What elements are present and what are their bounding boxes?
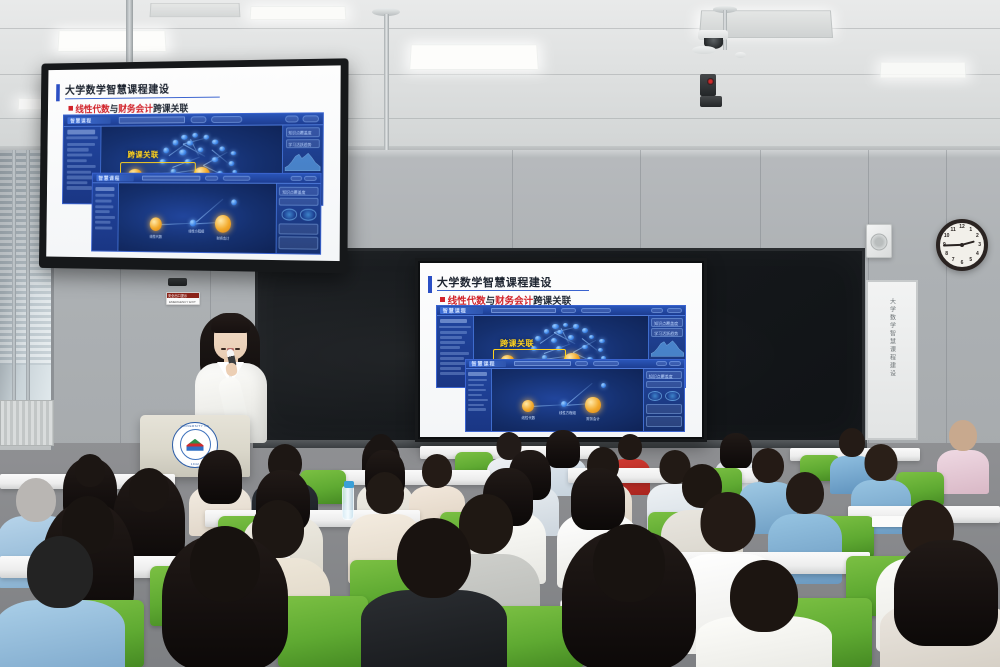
sidebar-item[interactable]	[67, 165, 96, 168]
led-panel-light	[250, 6, 347, 20]
dashboard-search-input[interactable]	[142, 176, 201, 181]
graph-node-label: 线性代数	[149, 234, 162, 239]
cross-course-highlight-label: 跨课关联	[500, 338, 534, 349]
person-head	[422, 454, 452, 488]
dashboard-toolbar-button[interactable]	[651, 308, 663, 313]
graph-edge	[531, 404, 564, 407]
wall-sign-header: 安全出口提示	[167, 293, 199, 298]
graph-node[interactable]	[172, 140, 178, 145]
dashboard-search-input[interactable]	[491, 308, 556, 313]
clock-numeral: 8	[945, 251, 948, 257]
panel-card-title: 知识点覆盖度	[654, 321, 678, 327]
graph-node[interactable]	[582, 328, 588, 333]
dashboard-topbar: 智慧课程	[437, 306, 686, 317]
slide-bullet-marker-icon	[440, 297, 445, 302]
panel-card[interactable]	[646, 381, 682, 388]
ac-vent	[150, 3, 241, 17]
activity-area-chart	[651, 338, 684, 356]
sidebar-item[interactable]	[468, 379, 487, 382]
led-panel-light	[57, 30, 166, 52]
area-chart-svg	[651, 338, 684, 356]
presenter-hair-fringe	[211, 313, 250, 333]
panel-card-title: 学习活跃趋势	[288, 142, 311, 148]
person-head	[397, 518, 471, 598]
panel-card-title: 知识点覆盖度	[649, 374, 673, 380]
person-head	[865, 444, 898, 481]
panel-gauge	[648, 391, 663, 401]
graph-node-label: 线性方程组	[188, 229, 204, 234]
graph-node[interactable]	[601, 383, 606, 389]
graph-node[interactable]	[190, 219, 196, 226]
dashboard-window-secondary[interactable]: 智慧课程	[91, 172, 321, 254]
lecture-hall-scene: 安全出口提示 EMERGENCY EXIT 12 1 2 3 4 5 6 7 8…	[0, 0, 1000, 667]
graph-hub-node-right[interactable]	[585, 397, 600, 412]
graph-node[interactable]	[231, 199, 237, 205]
slide-title-underline	[437, 290, 589, 291]
person-head	[593, 524, 665, 602]
clock-numeral: 12	[959, 224, 965, 230]
sidebar-item[interactable]	[468, 389, 486, 392]
seal-top-text: UNIVERSITY OF	[181, 424, 210, 428]
slide-surface: 大学数学智慧课程建设 线性代数与财务会计跨课关联 智慧课程	[420, 263, 702, 437]
person-head	[786, 472, 824, 514]
graph-node[interactable]	[598, 348, 603, 352]
knowledge-graph-canvas[interactable]: 线性代数 财务会计 线性方程组	[492, 369, 642, 431]
sidebar-item[interactable]	[468, 394, 482, 397]
wall-sign-sub: EMERGENCY EXIT	[169, 300, 196, 304]
wall-speaker	[866, 224, 892, 258]
sidebar-item-header[interactable]	[440, 319, 468, 323]
sidebar-item[interactable]	[440, 336, 462, 339]
slide-surface: 大学数学智慧课程建设 线性代数与财务会计跨课关联 智慧课程	[46, 65, 341, 261]
side-board-label: 大学数学智慧课程建设	[888, 298, 897, 378]
smoke-detector	[735, 52, 746, 58]
person-head	[949, 420, 977, 451]
sidebar-item[interactable]	[440, 372, 465, 375]
graph-node[interactable]	[230, 151, 236, 156]
clock-center-pin	[960, 243, 964, 247]
clock-numeral: 3	[978, 242, 981, 248]
sidebar-item[interactable]	[440, 346, 460, 349]
wall-panel-seam	[640, 150, 641, 250]
dashboard-toolbar-button[interactable]	[581, 308, 611, 313]
dashboard-toolbar-button[interactable]	[667, 308, 682, 313]
sidebar-item[interactable]	[66, 137, 98, 139]
sidebar-item[interactable]	[440, 352, 469, 355]
dashboard-right-panel: 知识点覆盖度	[276, 184, 321, 254]
graph-node[interactable]	[589, 335, 595, 339]
dashboard-toolbar-button[interactable]	[575, 361, 588, 366]
wall-sign: 安全出口提示 EMERGENCY EXIT	[166, 292, 200, 305]
clock-numeral: 4	[976, 251, 979, 257]
sidebar-item[interactable]	[439, 326, 471, 328]
clock-numeral: 1	[969, 227, 972, 233]
panel-card[interactable]: 学习活跃趋势	[285, 139, 320, 149]
graph-node[interactable]	[568, 335, 574, 340]
dashboard-brand: 智慧课程	[98, 175, 120, 182]
dashboard-brand: 智慧课程	[70, 117, 92, 124]
slide-title: 大学数学智慧课程建设	[65, 80, 170, 97]
dashboard-sidebar	[92, 183, 119, 250]
panel-card[interactable]: 知识点覆盖度	[646, 371, 682, 379]
panel-card-title: 知识点覆盖度	[288, 131, 311, 137]
box-camera-body	[700, 96, 722, 107]
knowledge-graph-canvas[interactable]: 线性代数 财务会计 线性方程组	[119, 184, 276, 254]
speaker-cone-icon	[871, 234, 888, 251]
dashboard-toolbar-button[interactable]	[561, 308, 576, 313]
dashboard-toolbar-button[interactable]	[191, 117, 207, 123]
camera-lens-icon	[707, 78, 714, 85]
audience-person	[366, 512, 502, 667]
graph-node[interactable]	[163, 148, 169, 153]
slide-bullet-marker-icon	[68, 106, 73, 111]
clock-numeral: 10	[944, 233, 950, 239]
panel-card[interactable]	[646, 404, 682, 414]
graph-node[interactable]	[535, 336, 541, 341]
presenter-eye	[221, 348, 226, 350]
graph-node-label: 财务会计	[586, 416, 600, 421]
dashboard-sidebar	[466, 369, 492, 431]
sidebar-item[interactable]	[440, 367, 461, 370]
panel-card-title: 学习活跃趋势	[654, 331, 678, 337]
dashboard-toolbar-button[interactable]	[223, 176, 251, 181]
dashboard-toolbar-button[interactable]	[211, 116, 242, 122]
dashboard-toolbar-button[interactable]	[593, 361, 619, 366]
side-whiteboard: 大学数学智慧课程建设	[866, 280, 918, 440]
clock-numeral: 7	[952, 257, 955, 263]
sidebar-item-header[interactable]	[67, 130, 95, 135]
slide-title-underline	[65, 97, 220, 100]
clock-numeral: 11	[951, 227, 956, 233]
graph-node[interactable]	[219, 146, 225, 151]
dashboard-right-panel: 知识点覆盖度	[643, 369, 684, 431]
dashboard-toolbar-button[interactable]	[285, 116, 298, 122]
panel-gauge	[665, 391, 680, 401]
sidebar-item-header[interactable]	[468, 372, 487, 376]
dashboard-topbar: 智慧课程	[93, 173, 321, 184]
audience-person	[700, 556, 828, 667]
hanging-tv-display[interactable]: 大学数学智慧课程建设 线性代数与财务会计跨课关联 智慧课程	[39, 58, 349, 273]
graph-node[interactable]	[181, 135, 188, 140]
chair[interactable]	[278, 596, 368, 667]
sidebar-item[interactable]	[440, 362, 467, 365]
graph-node[interactable]	[198, 147, 204, 152]
audience-person	[160, 520, 290, 667]
slide-accent-bar	[428, 276, 431, 293]
projection-surface[interactable]: 大学数学智慧课程建设 线性代数与财务会计跨课关联 智慧课程	[420, 263, 702, 437]
cross-course-highlight-label: 跨课关联	[128, 150, 159, 161]
graph-node[interactable]	[599, 339, 604, 343]
clock-numeral: 6	[961, 260, 964, 266]
sidebar-item[interactable]	[440, 341, 465, 344]
dashboard-toolbar-button[interactable]	[290, 176, 302, 181]
sidebar-item[interactable]	[468, 399, 488, 402]
sidebar-item[interactable]	[67, 143, 95, 146]
audience-person	[560, 520, 698, 667]
dashboard-toolbar-button[interactable]	[669, 361, 681, 366]
graph-hub-node-right[interactable]	[215, 215, 231, 232]
person-head	[701, 492, 756, 552]
graph-node-label: 线性方程组	[559, 410, 576, 415]
person-head	[190, 526, 260, 602]
dashboard-brand: 智慧课程	[443, 307, 467, 314]
sidebar-item[interactable]	[468, 408, 486, 411]
sidebar-item[interactable]	[440, 357, 464, 360]
graph-hub-node-left[interactable]	[150, 217, 163, 231]
tv-screen[interactable]: 大学数学智慧课程建设 线性代数与财务会计跨课关联 智慧课程	[46, 65, 341, 261]
clock-numeral: 5	[969, 257, 972, 263]
projection-screen[interactable]: 大学数学智慧课程建设 线性代数与财务会计跨课关联 智慧课程	[415, 258, 707, 442]
panel-card[interactable]: 知识点覆盖度	[651, 318, 683, 327]
graph-node[interactable]	[544, 329, 550, 334]
led-panel-light	[409, 44, 539, 69]
audience-person	[938, 418, 988, 490]
audience-person	[0, 530, 120, 667]
dashboard-toolbar-button[interactable]	[304, 176, 317, 181]
graph-node[interactable]	[561, 401, 567, 407]
sidebar-item-header[interactable]	[95, 187, 114, 191]
wall-device	[168, 278, 187, 286]
dashboard-topbar: 智慧课程	[466, 360, 684, 369]
sidebar-item[interactable]	[95, 226, 113, 229]
graph-node[interactable]	[563, 323, 569, 327]
sidebar-item[interactable]	[67, 170, 91, 173]
led-panel-light	[880, 62, 967, 79]
graph-edge	[159, 223, 193, 226]
panel-card[interactable]: 知识点覆盖度	[286, 128, 321, 138]
graph-node-label: 线性代数	[522, 415, 536, 420]
smoke-detector	[692, 46, 716, 54]
graph-node[interactable]	[582, 345, 588, 350]
sidebar-item[interactable]	[95, 205, 113, 208]
sidebar-item[interactable]	[95, 210, 109, 213]
person-head	[366, 472, 404, 514]
sidebar-item[interactable]	[468, 384, 484, 387]
graph-node[interactable]	[573, 324, 579, 328]
person-torso	[361, 590, 507, 667]
ceiling-grid-line	[0, 28, 1000, 29]
dashboard-search-input[interactable]	[514, 361, 571, 366]
sidebar-item[interactable]	[95, 216, 115, 219]
graph-node[interactable]	[552, 324, 558, 329]
person-hair	[894, 540, 998, 646]
graph-node[interactable]	[551, 338, 558, 343]
graph-node-label: 财务会计	[217, 236, 230, 241]
sidebar-item[interactable]	[95, 194, 114, 197]
panel-card[interactable]	[279, 223, 318, 235]
sidebar-item[interactable]	[95, 221, 111, 224]
panel-card-title: 知识点覆盖度	[282, 190, 305, 196]
graph-node[interactable]	[228, 161, 234, 166]
wall-sign-heading: 安全出口提示	[168, 293, 187, 298]
panel-card[interactable]	[279, 237, 318, 250]
sidebar-item[interactable]	[440, 331, 468, 334]
radiator	[0, 400, 54, 446]
graph-hub-node-left[interactable]	[522, 400, 534, 412]
person-head	[27, 536, 93, 608]
audience-person	[884, 536, 1000, 667]
sidebar-item[interactable]	[67, 176, 94, 179]
tv-mount-arm	[126, 0, 133, 62]
dashboard-window-secondary[interactable]: 智慧课程	[465, 359, 685, 432]
panel-card[interactable]: 学习活跃趋势	[651, 328, 683, 337]
slide-accent-bar	[56, 84, 59, 102]
panel-card[interactable]	[279, 198, 318, 206]
wall-panel-seam	[946, 150, 947, 450]
person-head	[730, 560, 798, 632]
wall-clock: 12 1 2 3 4 5 6 7 8 9 10 11	[936, 219, 988, 271]
dashboard-search-input[interactable]	[119, 117, 185, 123]
dashboard-brand: 智慧课程	[472, 360, 496, 367]
presenter-eye	[235, 348, 240, 350]
panel-card[interactable]	[646, 416, 682, 427]
panel-gauge	[281, 209, 297, 220]
dashboard-toolbar-button[interactable]	[656, 361, 667, 366]
panel-card[interactable]: 知识点覆盖度	[279, 187, 318, 196]
area-chart-svg	[285, 150, 320, 171]
graph-node[interactable]	[192, 133, 198, 138]
sidebar-item[interactable]	[95, 200, 111, 203]
graph-node[interactable]	[212, 157, 218, 162]
slide-title: 大学数学智慧课程建设	[437, 274, 552, 290]
dashboard-toolbar-button[interactable]	[302, 116, 318, 122]
sidebar-item[interactable]	[67, 154, 93, 157]
sidebar-item[interactable]	[67, 159, 87, 162]
clock-numeral: 2	[976, 233, 979, 239]
graph-node[interactable]	[179, 149, 186, 155]
wall-panel-seam	[512, 150, 513, 250]
activity-area-chart	[285, 150, 320, 171]
person-torso	[937, 450, 989, 494]
sidebar-item[interactable]	[67, 148, 89, 151]
panel-gauge	[300, 209, 316, 220]
person-head	[75, 454, 105, 487]
sidebar-item[interactable]	[468, 404, 484, 407]
graph-node[interactable]	[212, 139, 218, 144]
sidebar-item[interactable]	[67, 186, 93, 189]
dashboard-toolbar-button[interactable]	[205, 176, 219, 181]
sidebar-item[interactable]	[67, 181, 88, 184]
box-camera[interactable]	[700, 74, 716, 96]
person-torso	[0, 600, 125, 667]
graph-node[interactable]	[203, 135, 209, 140]
